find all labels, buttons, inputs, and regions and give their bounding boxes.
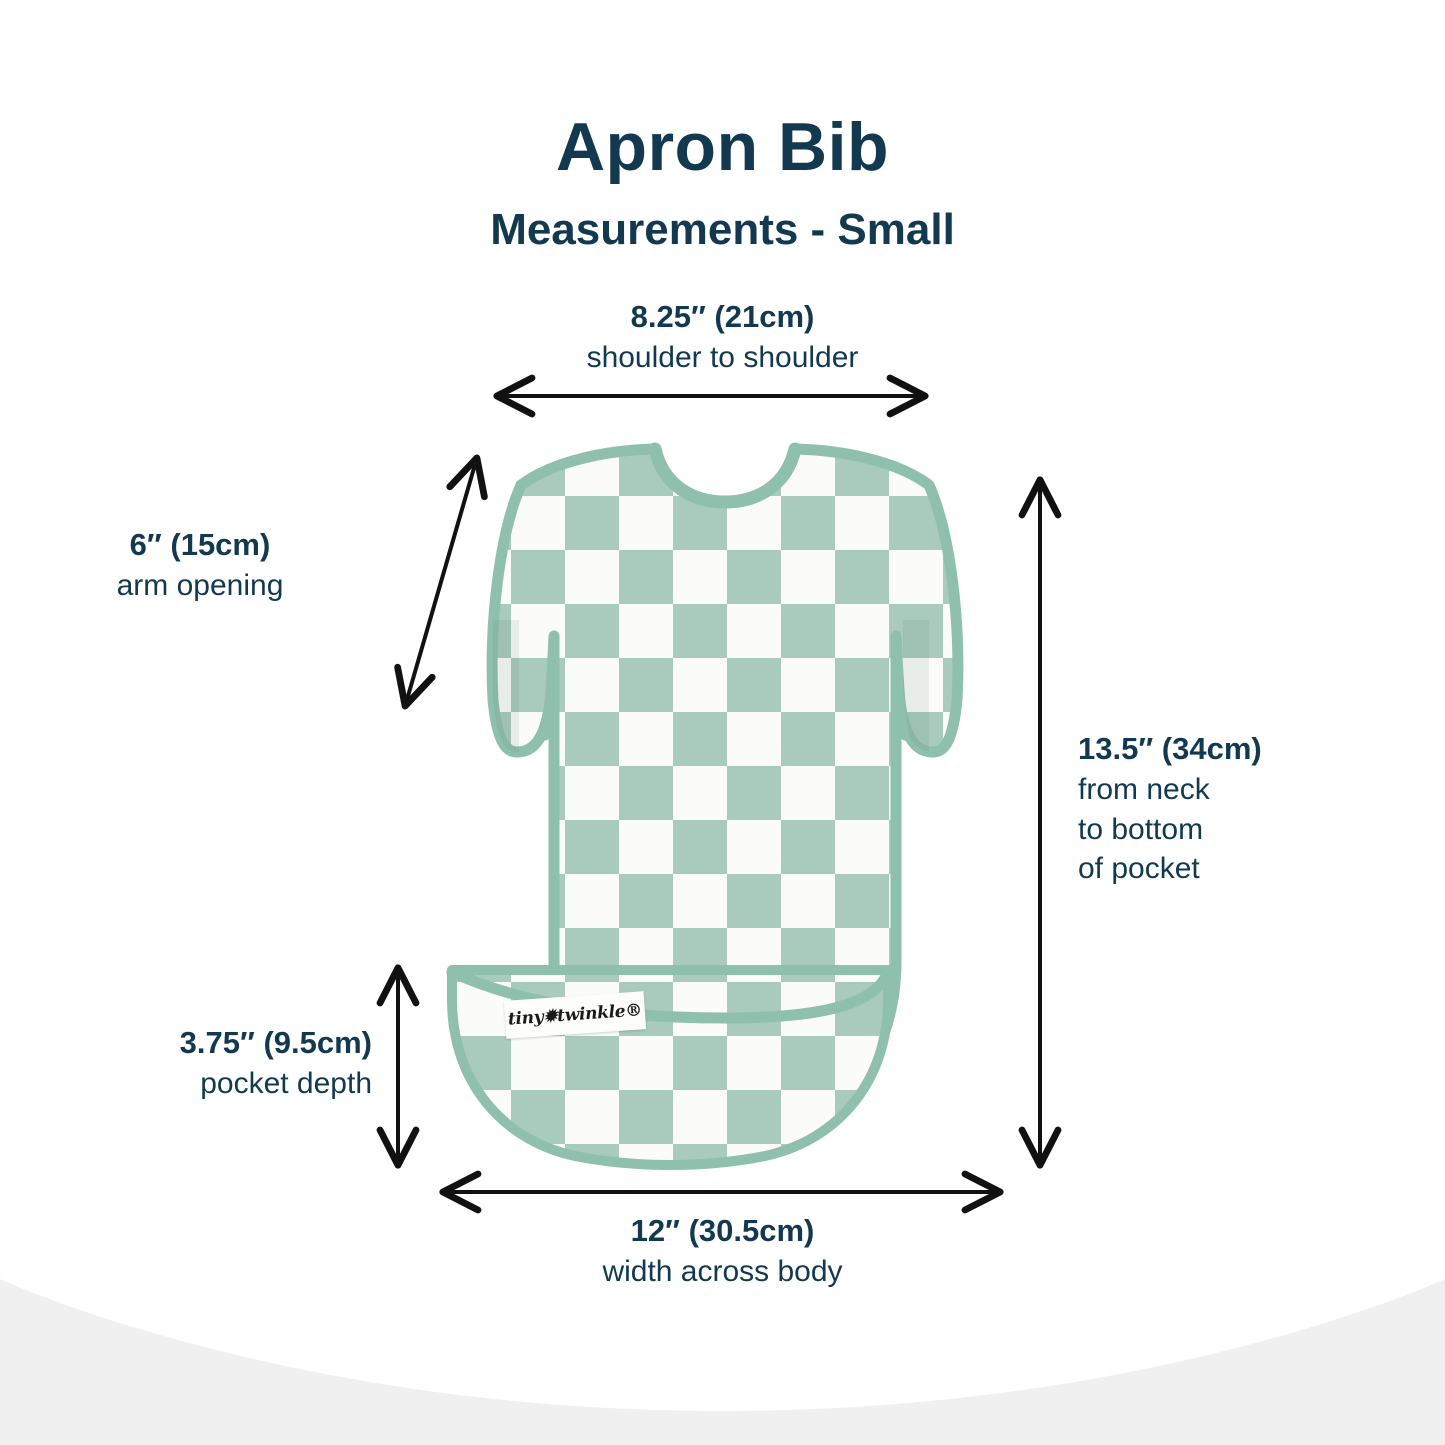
- measurement-arm-opening: 6″ (15cm) arm opening: [0, 525, 400, 606]
- shoulder-description: shoulder to shoulder: [0, 338, 1445, 378]
- height-description-line-2: to bottom: [1078, 810, 1408, 850]
- page-subtitle: Measurements - Small: [0, 206, 1445, 254]
- measurement-shoulder-to-shoulder: 8.25″ (21cm) shoulder to shoulder: [0, 297, 1445, 378]
- pocket-description: pocket depth: [0, 1064, 372, 1104]
- footer-arc-decoration: [0, 1279, 1445, 1445]
- page-title: Apron Bib: [0, 112, 1445, 183]
- brand-label-text: tiny✹twinkle®: [507, 1000, 642, 1029]
- width-value: 12″ (30.5cm): [0, 1211, 1445, 1252]
- measurement-neck-to-pocket: 13.5″ (34cm) from neck to bottom of pock…: [1078, 729, 1408, 889]
- measurement-diagram-page: Apron Bib Measurements - Small: [0, 0, 1445, 1445]
- height-description-line-3: of pocket: [1078, 849, 1408, 889]
- apron-bib-illustration: [405, 440, 1045, 1170]
- height-value: 13.5″ (34cm): [1078, 729, 1408, 770]
- height-description-line-1: from neck: [1078, 770, 1408, 810]
- measurement-width-across-body: 12″ (30.5cm) width across body: [0, 1211, 1445, 1292]
- arm-value: 6″ (15cm): [0, 525, 400, 566]
- pocket-value: 3.75″ (9.5cm): [0, 1023, 372, 1064]
- arm-description: arm opening: [0, 566, 400, 606]
- width-description: width across body: [0, 1252, 1445, 1292]
- measurement-pocket-depth: 3.75″ (9.5cm) pocket depth: [0, 1023, 372, 1104]
- shoulder-value: 8.25″ (21cm): [0, 297, 1445, 338]
